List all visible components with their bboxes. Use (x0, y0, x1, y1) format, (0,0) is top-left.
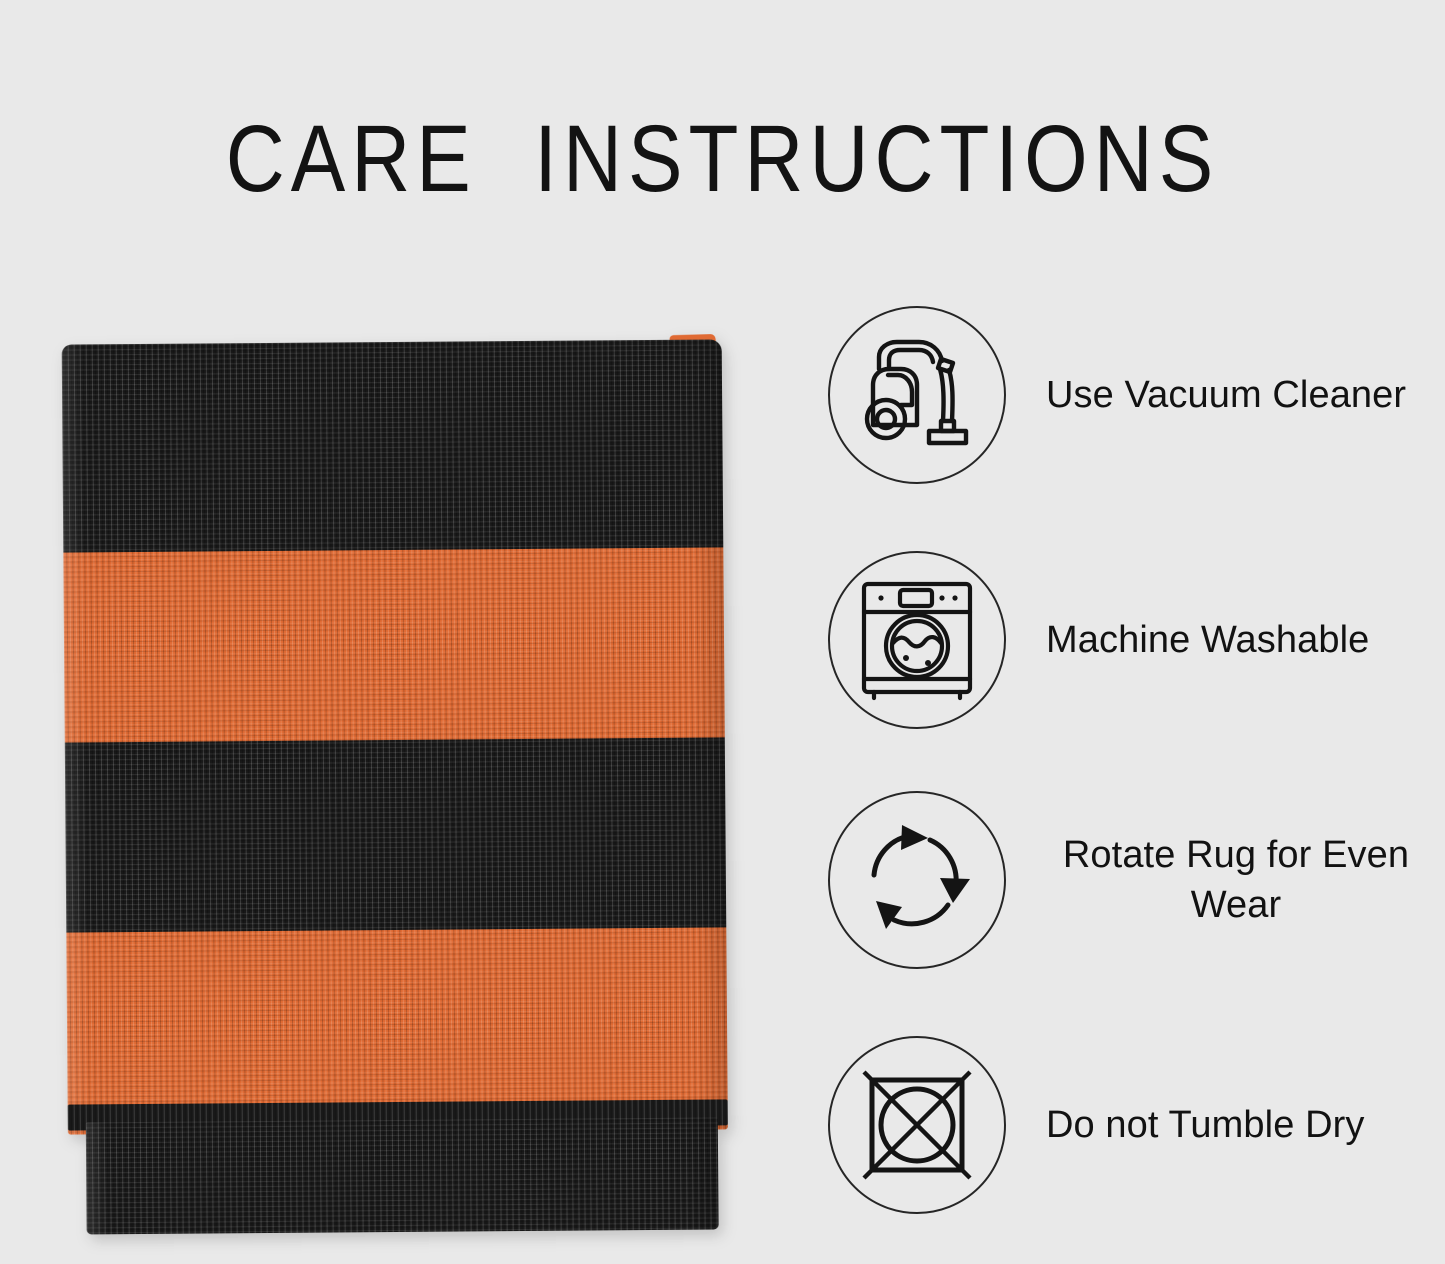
instruction-row-no-tumble-dry: Do not Tumble Dry (828, 1030, 1428, 1220)
instruction-label-rotate: Rotate Rug for Even Wear (1046, 830, 1426, 930)
vacuum-cleaner-icon (828, 306, 1006, 484)
product-image (55, 322, 755, 1222)
rug-folded-hem (86, 1117, 719, 1234)
rug-hem-texture-vertical (86, 1117, 719, 1234)
page-title: CARE INSTRUCTIONS (101, 108, 1344, 210)
rug-striped-body (62, 339, 728, 1134)
instruction-label-machine-washable: Machine Washable (1046, 615, 1369, 665)
instruction-row-machine-washable: Machine Washable (828, 545, 1428, 735)
instruction-row-rotate: Rotate Rug for Even Wear (828, 785, 1428, 975)
rug-stripe-black-1 (62, 339, 724, 554)
folded-striped-rug (62, 339, 729, 1194)
washing-machine-icon (828, 551, 1006, 729)
rotate-arrows-icon (828, 791, 1006, 969)
rug-hem-edge-shading (86, 1117, 719, 1234)
instruction-label-vacuum: Use Vacuum Cleaner (1046, 370, 1406, 420)
rug-stripe-orange-1 (63, 547, 724, 744)
no-tumble-dry-icon (828, 1036, 1006, 1214)
care-instructions-page: CARE INSTRUCTIONS (0, 0, 1445, 1264)
rug-hem-texture-horizontal (86, 1117, 719, 1234)
instruction-row-vacuum: Use Vacuum Cleaner (828, 300, 1428, 490)
instruction-label-no-tumble-dry: Do not Tumble Dry (1046, 1100, 1364, 1150)
rug-stripe-black-2 (65, 737, 726, 934)
